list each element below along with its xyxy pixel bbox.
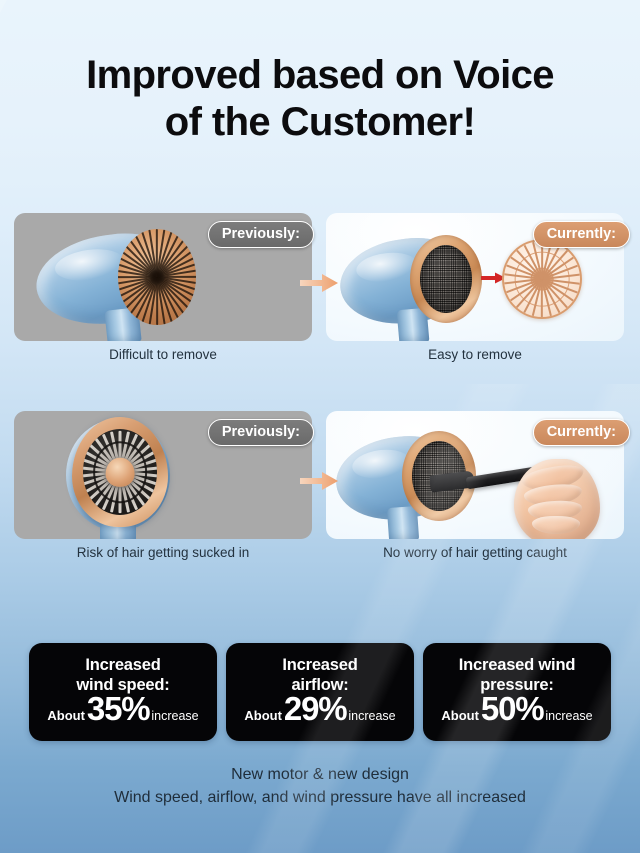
promo-page: Improved based on Voice of the Customer!…	[0, 0, 640, 853]
caption-before-1: Difficult to remove	[14, 347, 312, 362]
stat-value: 35%	[87, 690, 149, 728]
grille-hub	[106, 458, 135, 487]
comparison-row-1: Previously: Difficult to remove	[0, 213, 640, 363]
stat-cards: Increased wind speed: About 35% increase…	[0, 643, 640, 743]
front-grille	[72, 417, 168, 527]
mesh-filter-face	[420, 245, 472, 313]
dryer-handle	[387, 506, 419, 539]
stat-increase-label: increase	[545, 709, 592, 723]
stat-increase-label: increase	[348, 709, 395, 723]
stat-card-airflow: Increased airflow: About 29% increase	[226, 643, 414, 741]
transition-arrow-2	[298, 469, 340, 493]
stat-card-wind-speed: Increased wind speed: About 35% increase	[29, 643, 217, 741]
footer-line-2: Wind speed, airflow, and wind pressure h…	[0, 786, 640, 809]
stat-value: 29%	[284, 690, 346, 728]
stat-title-line-1: Increased	[282, 656, 357, 674]
headline-line-2: of the Customer!	[0, 99, 640, 146]
stat-card-wind-pressure: Increased wind pressure: About 50% incre…	[423, 643, 611, 741]
badge-currently-2: Currently:	[533, 419, 630, 446]
headline-line-1: Improved based on Voice	[86, 53, 554, 97]
stat-title: Increased airflow:	[226, 655, 414, 695]
badge-currently-1: Currently:	[533, 221, 630, 248]
stat-about-label: About	[441, 708, 479, 723]
barrel-highlight	[53, 246, 125, 285]
page-title: Improved based on Voice of the Customer!	[0, 52, 640, 146]
detachable-filter-ring	[502, 239, 582, 319]
stat-value-row: About 29% increase	[226, 690, 414, 728]
stat-value-row: About 50% increase	[423, 690, 611, 728]
badge-previously-1: Previously:	[208, 221, 314, 248]
stat-title-line-1: Increased wind	[459, 656, 575, 674]
copper-finned-filter-cap	[118, 229, 196, 325]
stat-title-line-1: Increased	[85, 656, 160, 674]
comparison-row-2: Previously: Risk of hair getting sucked …	[0, 411, 640, 561]
footer-text: New motor & new design Wind speed, airfl…	[0, 763, 640, 809]
transition-arrow-1	[298, 271, 340, 295]
stat-title: Increased wind pressure:	[423, 655, 611, 695]
caption-before-2: Risk of hair getting sucked in	[14, 545, 312, 560]
badge-previously-2: Previously:	[208, 419, 314, 446]
stat-about-label: About	[244, 708, 282, 723]
footer-line-1: New motor & new design	[0, 763, 640, 786]
stat-value: 50%	[481, 690, 543, 728]
stat-title: Increased wind speed:	[29, 655, 217, 695]
stat-value-row: About 35% increase	[29, 690, 217, 728]
stat-about-label: About	[47, 708, 85, 723]
stat-increase-label: increase	[151, 709, 198, 723]
caption-after-1: Easy to remove	[326, 347, 624, 362]
caption-after-2: No worry of hair getting caught	[326, 545, 624, 560]
